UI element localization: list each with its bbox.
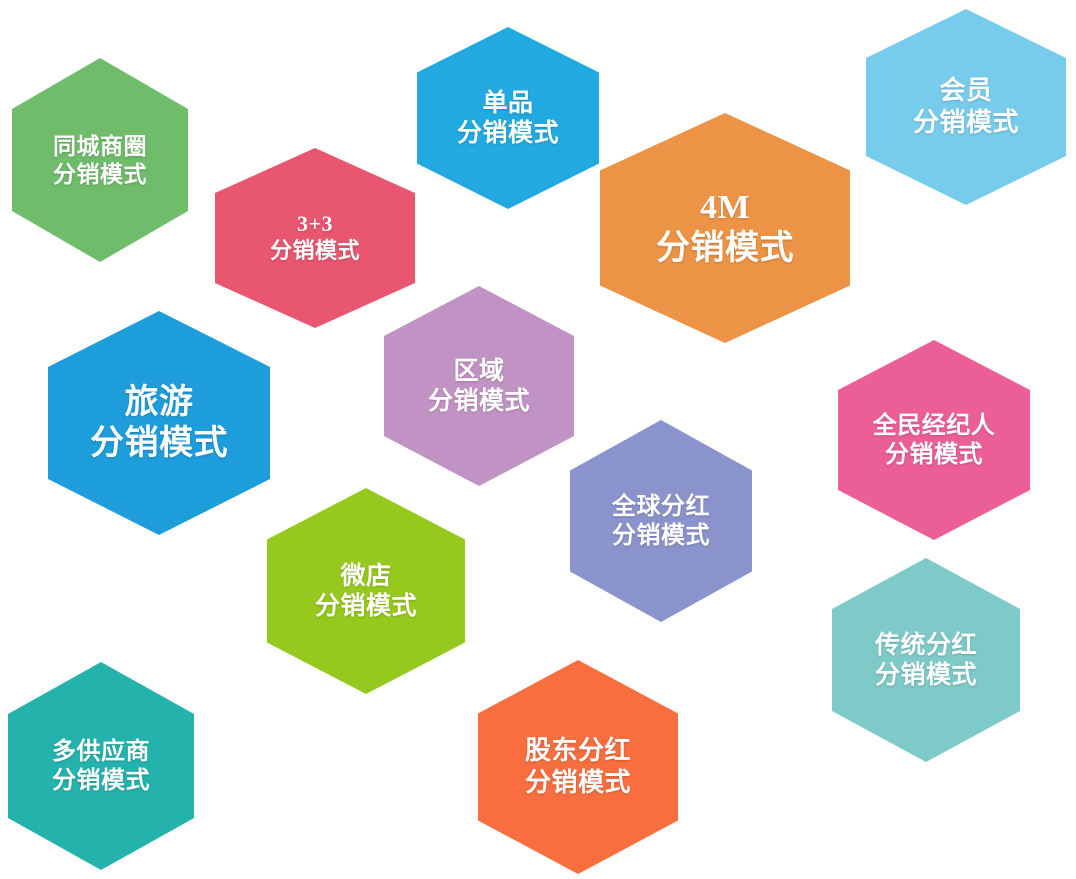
hexagon-label-primary: 旅游 — [125, 382, 194, 423]
hexagon-quyu[interactable]: 区域分销模式 — [384, 286, 574, 486]
hexagon-huiyuan[interactable]: 会员分销模式 — [866, 9, 1066, 205]
hexagon-quanmin-jingjiren[interactable]: 全民经纪人分销模式 — [838, 340, 1030, 540]
hexagon-label-secondary: 分销模式 — [52, 766, 150, 795]
hexagon-tongcheng-shangquan[interactable]: 同城商圈分销模式 — [12, 58, 188, 262]
hexagon-label-secondary: 分销模式 — [270, 238, 360, 265]
hexagon-gudong-fenhong[interactable]: 股东分红分销模式 — [478, 660, 678, 874]
hexagon-label-secondary: 分销模式 — [53, 160, 147, 188]
hexagon-label-primary: 3+3 — [297, 211, 333, 238]
hexagon-label-primary: 单品 — [482, 88, 533, 119]
hexagon-label-secondary: 分销模式 — [525, 767, 631, 799]
hexagon-duogongyingshang[interactable]: 多供应商分销模式 — [8, 662, 194, 870]
hexagon-label-secondary: 分销模式 — [612, 521, 710, 550]
hexagon-label-secondary: 分销模式 — [315, 591, 417, 622]
hexagon-label-primary: 同城商圈 — [53, 132, 147, 160]
hexagon-label-primary: 传统分红 — [875, 630, 977, 661]
hexagon-label-secondary: 分销模式 — [656, 228, 794, 269]
hexagon-label-primary: 微店 — [340, 561, 391, 592]
hexagon-label-primary: 会员 — [939, 75, 992, 107]
hexagon-4m[interactable]: 4M分销模式 — [600, 113, 850, 343]
hexagon-diagram-canvas: 同城商圈分销模式3+3分销模式单品分销模式4M分销模式会员分销模式旅游分销模式区… — [0, 0, 1076, 879]
hexagon-label-primary: 多供应商 — [52, 737, 150, 766]
hexagon-label-secondary: 分销模式 — [457, 118, 559, 149]
hexagon-quanqiu-fenhong[interactable]: 全球分红分销模式 — [570, 420, 752, 622]
hexagon-label-primary: 区域 — [453, 356, 504, 387]
hexagon-label-secondary: 分销模式 — [913, 107, 1019, 139]
hexagon-label-primary: 全民经纪人 — [873, 411, 996, 440]
hexagon-label-secondary: 分销模式 — [428, 386, 530, 417]
hexagon-label-primary: 全球分红 — [612, 492, 710, 521]
hexagon-label-secondary: 分销模式 — [90, 423, 228, 464]
hexagon-lvyou[interactable]: 旅游分销模式 — [48, 311, 270, 535]
hexagon-label-primary: 4M — [700, 187, 750, 228]
hexagon-san-jia-san[interactable]: 3+3分销模式 — [215, 148, 415, 328]
hexagon-chuantong-fenhong[interactable]: 传统分红分销模式 — [832, 558, 1020, 762]
hexagon-weidian[interactable]: 微店分销模式 — [267, 488, 465, 694]
hexagon-danpin[interactable]: 单品分销模式 — [417, 27, 599, 209]
hexagon-label-primary: 股东分红 — [525, 735, 631, 767]
hexagon-label-secondary: 分销模式 — [885, 440, 983, 469]
hexagon-label-secondary: 分销模式 — [875, 660, 977, 691]
